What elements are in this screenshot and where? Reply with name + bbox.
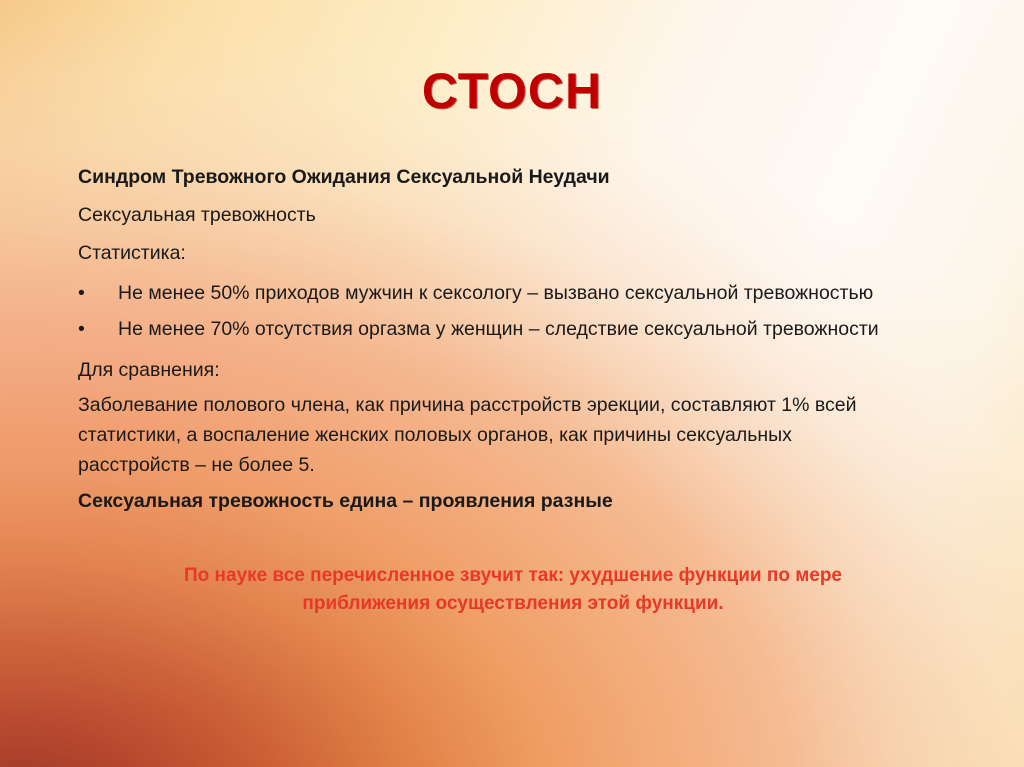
statistics-label: Статистика: (78, 238, 950, 269)
list-item: • Не менее 50% приходов мужчин к сексоло… (78, 278, 918, 308)
list-item: • Не менее 70% отсутствия оргазма у женщ… (78, 314, 918, 344)
bullet-dot-icon: • (78, 278, 85, 308)
page-title: СТОСН (0, 62, 1024, 120)
subtitle-heading: Синдром Тревожного Ожидания Сексуальной … (78, 162, 950, 193)
comparison-label: Для сравнения: (78, 355, 950, 386)
slide-canvas: СТОСН Синдром Тревожного Ожидания Сексуа… (0, 0, 1024, 767)
closing-statement: По науке все перечисленное звучит так: у… (118, 562, 908, 618)
slide-content: СТОСН Синдром Тревожного Ожидания Сексуа… (0, 0, 1024, 767)
comparison-paragraph: Заболевание полового члена, как причина … (78, 390, 868, 480)
bullet-dot-icon: • (78, 314, 85, 344)
statistics-list: • Не менее 50% приходов мужчин к сексоло… (78, 278, 950, 344)
conclusion-text: Сексуальная тревожность едина – проявлен… (78, 486, 950, 517)
slide-body: Синдром Тревожного Ожидания Сексуальной … (78, 162, 950, 524)
lead-text: Сексуальная тревожность (78, 200, 950, 231)
list-item-text: Не менее 50% приходов мужчин к сексологу… (118, 282, 873, 304)
list-item-text: Не менее 70% отсутствия оргазма у женщин… (118, 318, 879, 340)
